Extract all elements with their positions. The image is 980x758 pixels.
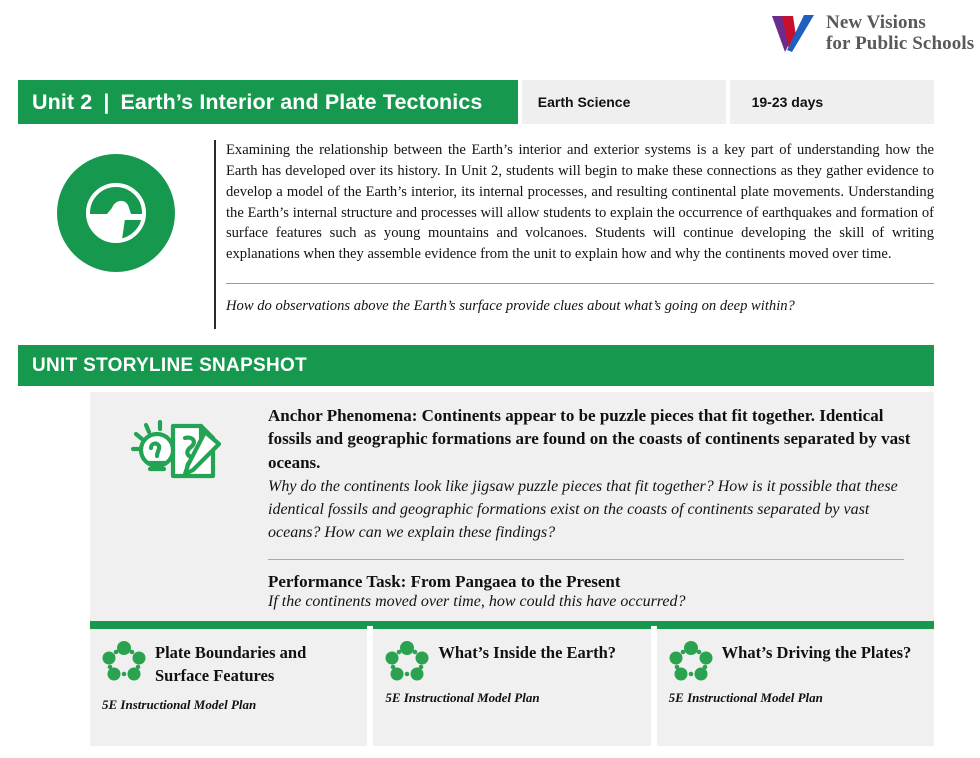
- snapshot-body: Anchor Phenomena: Continents appear to b…: [268, 404, 934, 611]
- performance-task-question: If the continents moved over time, how c…: [268, 593, 918, 611]
- molecule-cluster-icon: [669, 641, 713, 681]
- duration-box: 19-23 days: [730, 80, 934, 124]
- lesson-card-title: Plate Boundaries and Surface Features: [155, 641, 355, 688]
- unit-title-text: Earth’s Interior and Plate Tectonics: [120, 90, 482, 115]
- earth-cross-section-glyph: [79, 176, 153, 250]
- lesson-card-subtitle: 5E Instructional Model Plan: [385, 690, 638, 706]
- lightbulb-document-pencil-icon: [127, 416, 231, 500]
- brand-name-line2: for Public Schools: [826, 33, 974, 54]
- snapshot-icon-column: [90, 404, 268, 611]
- unit-overview-page: New Visions for Public Schools Unit 2 | …: [0, 0, 980, 758]
- lesson-card-title: What’s Inside the Earth?: [438, 641, 616, 665]
- overview-essential-question: How do observations above the Earth’s su…: [226, 296, 934, 316]
- brand-logo: New Visions for Public Schools: [770, 12, 974, 55]
- lesson-card-subtitle: 5E Instructional Model Plan: [102, 697, 355, 713]
- lesson-cards-row: Plate Boundaries and Surface Features 5E…: [90, 626, 934, 746]
- overview-icon-column: [18, 140, 214, 329]
- storyline-snapshot-panel: Anchor Phenomena: Continents appear to b…: [90, 392, 934, 621]
- brand-name: New Visions for Public Schools: [826, 12, 974, 55]
- overview-description: Examining the relationship between the E…: [226, 140, 934, 265]
- unit-title-block: Unit 2 | Earth’s Interior and Plate Tect…: [18, 80, 518, 124]
- snapshot-divider: [268, 559, 904, 560]
- anchor-phenomena-title: Anchor Phenomena: Continents appear to b…: [268, 404, 918, 474]
- lesson-card-head: What’s Inside the Earth?: [385, 641, 638, 681]
- lesson-card-head: What’s Driving the Plates?: [669, 641, 922, 681]
- brand-name-line1: New Visions: [826, 12, 974, 33]
- earth-cross-section-icon: [57, 154, 175, 272]
- unit-overview-section: Examining the relationship between the E…: [18, 140, 934, 329]
- overview-text-column: Examining the relationship between the E…: [214, 140, 934, 329]
- unit-label: Unit 2: [32, 90, 92, 115]
- lesson-card[interactable]: What’s Driving the Plates? 5E Instructio…: [657, 626, 934, 746]
- lesson-card[interactable]: What’s Inside the Earth? 5E Instructiona…: [373, 626, 650, 746]
- lesson-card-subtitle: 5E Instructional Model Plan: [669, 690, 922, 706]
- storyline-banner-title: UNIT STORYLINE SNAPSHOT: [32, 355, 307, 377]
- unit-header-band: Unit 2 | Earth’s Interior and Plate Tect…: [18, 80, 934, 124]
- subject-box: Earth Science: [522, 80, 726, 124]
- unit-title-separator: |: [92, 90, 120, 115]
- new-visions-checkmark-logo-icon: [770, 12, 816, 54]
- performance-task-title: Performance Task: From Pangaea to the Pr…: [268, 572, 918, 592]
- overview-divider: [226, 283, 934, 284]
- lesson-card-title: What’s Driving the Plates?: [722, 641, 912, 665]
- anchor-phenomena-questions: Why do the continents look like jigsaw p…: [268, 476, 918, 544]
- lesson-card-head: Plate Boundaries and Surface Features: [102, 641, 355, 688]
- molecule-cluster-icon: [102, 641, 146, 681]
- molecule-cluster-icon: [385, 641, 429, 681]
- storyline-banner: UNIT STORYLINE SNAPSHOT: [18, 345, 934, 386]
- lesson-card[interactable]: Plate Boundaries and Surface Features 5E…: [90, 626, 367, 746]
